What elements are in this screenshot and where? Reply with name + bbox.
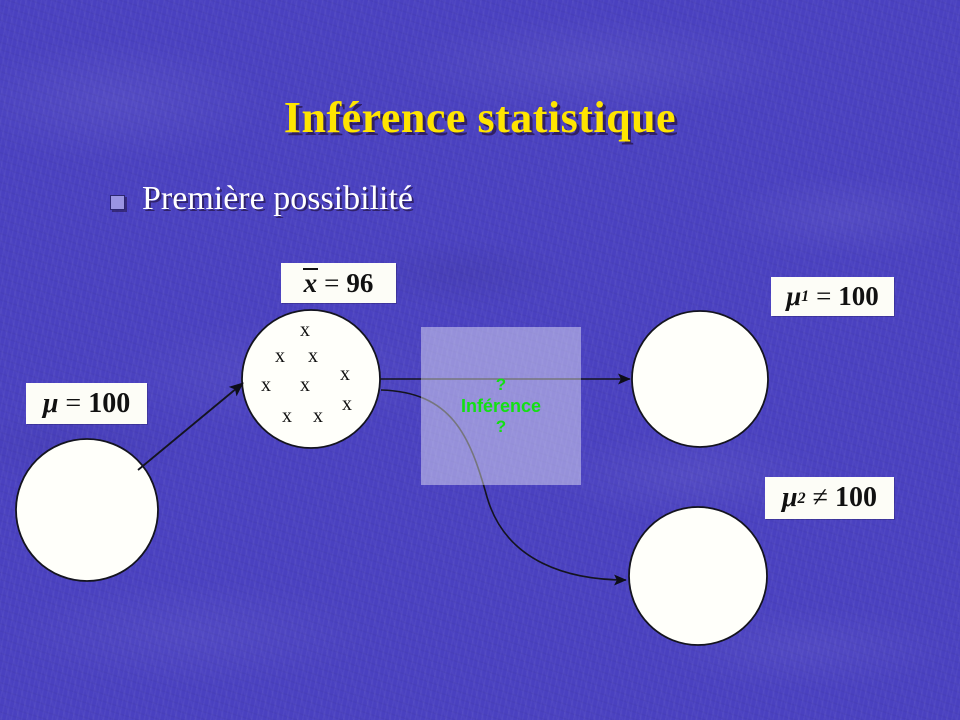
sample-mean-symbol: x bbox=[304, 268, 318, 299]
observation-x: x bbox=[300, 375, 310, 395]
observation-x: x bbox=[340, 364, 350, 384]
observation-x: x bbox=[300, 320, 310, 340]
sampling-arrow bbox=[138, 383, 243, 470]
inference-diagram: x x x x x x x x x ? Inférence ? x = 96 μ… bbox=[0, 0, 960, 720]
population-mean-symbol: μ bbox=[43, 388, 59, 420]
hypothesis-2-circle bbox=[629, 507, 767, 645]
hypothesis-2-symbol: μ bbox=[782, 482, 798, 514]
hypothesis-1-formula: μ1 = 100 bbox=[771, 277, 894, 316]
hypothesis-1-value: 100 bbox=[838, 281, 879, 312]
sample-mean-operator: = bbox=[324, 268, 339, 299]
hypothesis-2-operator: ≠ bbox=[813, 482, 828, 514]
observation-x: x bbox=[282, 406, 292, 426]
hypothesis-1-circle bbox=[632, 311, 768, 447]
hypothesis-1-symbol: μ bbox=[786, 281, 801, 312]
population-mean-operator: = bbox=[65, 388, 81, 420]
slide-canvas: Inférence statistique Première possibili… bbox=[0, 0, 960, 720]
observation-x: x bbox=[308, 346, 318, 366]
observation-x: x bbox=[261, 375, 271, 395]
observation-x: x bbox=[342, 394, 352, 414]
hypothesis-1-operator: = bbox=[816, 281, 831, 312]
sample-mean-formula: x = 96 bbox=[281, 263, 396, 303]
observation-x: x bbox=[275, 346, 285, 366]
hypothesis-2-value: 100 bbox=[835, 482, 877, 514]
population-mean-formula: μ = 100 bbox=[26, 383, 147, 424]
hypothesis-2-formula: μ2 ≠ 100 bbox=[765, 477, 894, 519]
hypothesis-2-index: 2 bbox=[798, 489, 806, 508]
population-circle bbox=[16, 439, 158, 581]
sample-mean-value: 96 bbox=[346, 268, 373, 299]
hypothesis-1-index: 1 bbox=[801, 288, 809, 306]
population-mean-value: 100 bbox=[88, 388, 130, 420]
observation-x: x bbox=[313, 406, 323, 426]
inference-panel bbox=[421, 327, 581, 485]
